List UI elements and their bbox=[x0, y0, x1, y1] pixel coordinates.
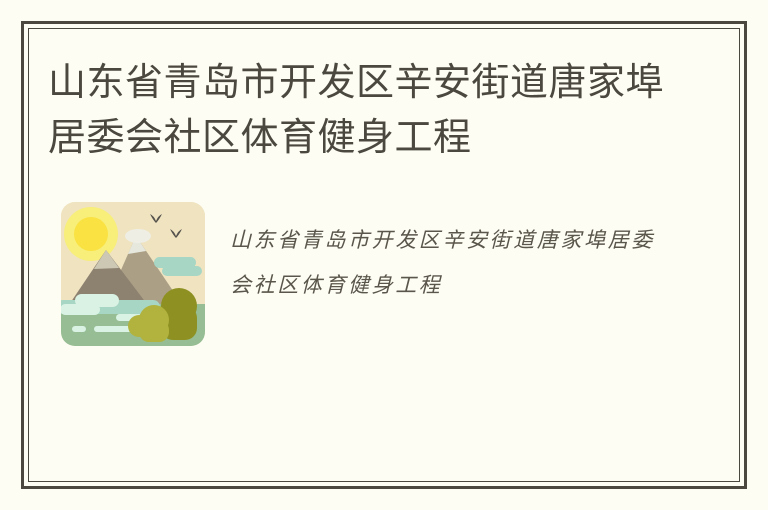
image-caption: 山东省青岛市开发区辛安街道唐家埠居委会社区体育健身工程 bbox=[230, 218, 660, 308]
image-card: 山东省青岛市开发区辛安街道唐家埠居委会社区体育健身工程 bbox=[0, 0, 768, 510]
landscape-icon bbox=[58, 196, 208, 363]
page-title: 山东省青岛市开发区辛安街道唐家埠居委会社区体育健身工程 bbox=[48, 55, 688, 165]
landscape-illustration bbox=[58, 196, 208, 363]
content-row: 山东省青岛市开发区辛安街道唐家埠居委会社区体育健身工程 bbox=[58, 196, 688, 366]
